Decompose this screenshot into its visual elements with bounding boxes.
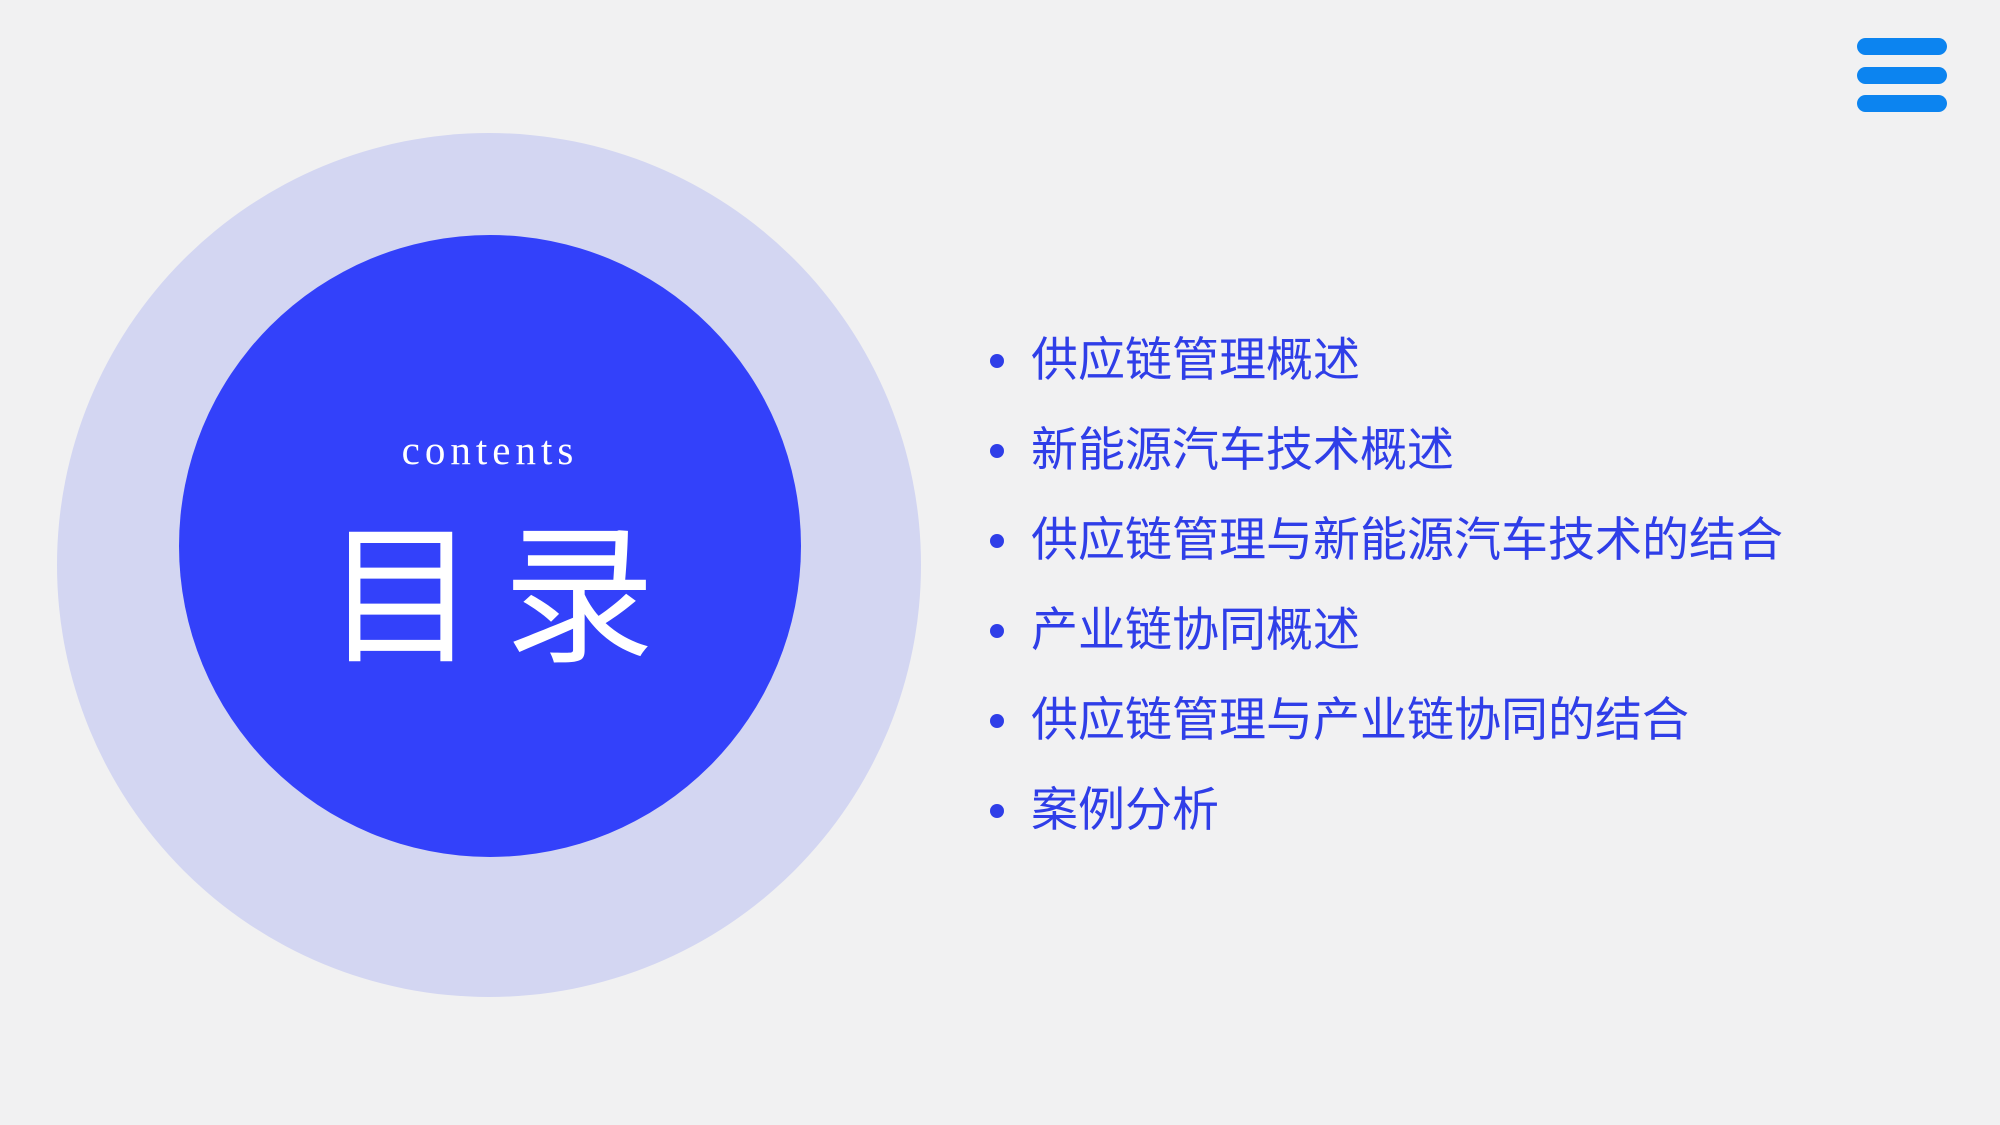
list-item[interactable]: 新能源汽车技术概述 [990,406,1950,496]
toc-item-label: 新能源汽车技术概述 [1031,428,1454,475]
bullet-dot-icon [990,624,1004,638]
list-item[interactable]: 产业链协同概述 [990,586,1950,676]
bullet-dot-icon [990,444,1004,458]
list-item[interactable]: 供应链管理与新能源汽车技术的结合 [990,496,1950,586]
hamburger-bar-middle [1857,67,1947,84]
toc-item-label: 案例分析 [1031,788,1219,835]
presentation-slide: contents 目录 供应链管理概述 新能源汽车技术概述 供应链管理与新能源汽… [0,0,2000,1125]
bullet-dot-icon [990,534,1004,548]
list-item[interactable]: 供应链管理与产业链协同的结合 [990,676,1950,766]
badge-text-group: contents 目录 [179,235,801,857]
toc-item-label: 供应链管理与新能源汽车技术的结合 [1031,518,1783,565]
hamburger-bar-bottom [1857,95,1947,112]
toc-item-label: 产业链协同概述 [1031,608,1360,655]
hamburger-menu-icon[interactable] [1857,38,1947,112]
bullet-dot-icon [990,714,1004,728]
hamburger-bar-top [1857,38,1947,55]
contents-badge: contents 目录 [57,133,921,997]
toc-item-label: 供应链管理概述 [1031,338,1360,385]
bullet-dot-icon [990,354,1004,368]
table-of-contents-list: 供应链管理概述 新能源汽车技术概述 供应链管理与新能源汽车技术的结合 产业链协同… [990,316,1950,856]
bullet-dot-icon [990,804,1004,818]
page-title: 目录 [299,523,681,675]
contents-eyebrow-label: contents [402,430,579,471]
list-item[interactable]: 案例分析 [990,766,1950,856]
list-item[interactable]: 供应链管理概述 [990,316,1950,406]
toc-item-label: 供应链管理与产业链协同的结合 [1031,698,1689,745]
